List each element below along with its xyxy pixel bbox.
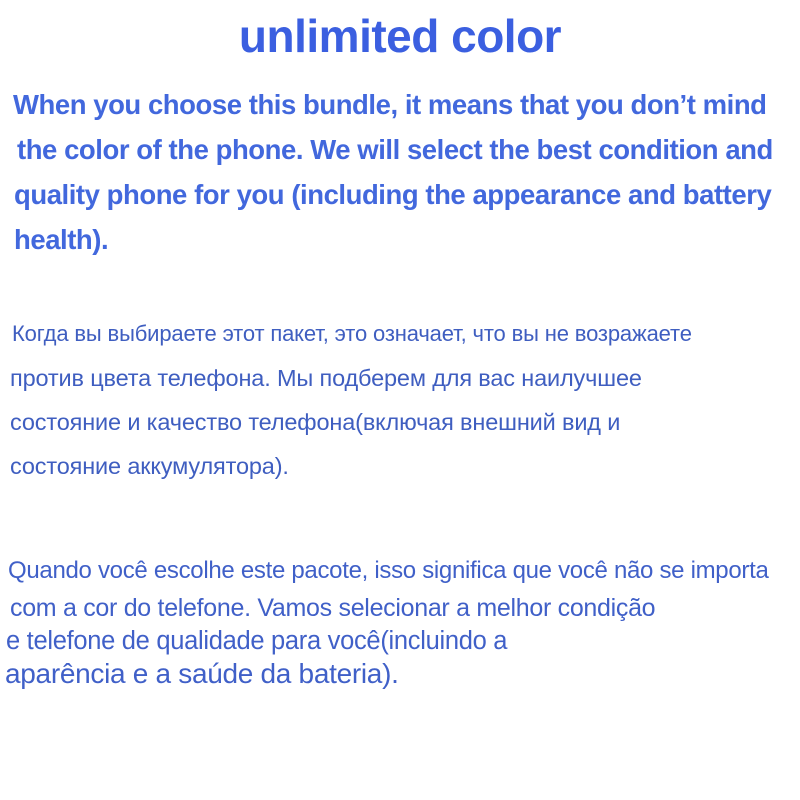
english-line: When you choose this bundle, it means th… xyxy=(0,82,800,127)
english-line: the color of the phone. We will select t… xyxy=(0,127,800,172)
page-title: unlimited color xyxy=(0,12,800,60)
portuguese-line: com a cor do telefone. Vamos selecionar … xyxy=(0,590,800,626)
description-paragraph-portuguese: Quando você escolhe este pacote, isso si… xyxy=(0,552,800,691)
russian-line: состояние аккумулятора). xyxy=(0,444,800,488)
description-paragraph-russian: Когда вы выбираете этот пакет, это означ… xyxy=(0,312,800,488)
russian-line: Когда вы выбираете этот пакет, это означ… xyxy=(0,312,800,356)
english-line: quality phone for you (including the app… xyxy=(0,172,800,217)
russian-line: против цвета телефона. Мы подберем для в… xyxy=(0,356,800,400)
product-description-banner: unlimited color When you choose this bun… xyxy=(0,0,800,800)
russian-line: состояние и качество телефона(включая вн… xyxy=(0,400,800,444)
portuguese-line: e telefone de qualidade para você(inclui… xyxy=(0,626,800,657)
portuguese-line: Quando você escolhe este pacote, isso si… xyxy=(0,552,800,590)
portuguese-line: aparência e a saúde da bateria). xyxy=(0,657,800,691)
english-line: health). xyxy=(0,217,800,263)
description-paragraph-english: When you choose this bundle, it means th… xyxy=(0,82,800,263)
